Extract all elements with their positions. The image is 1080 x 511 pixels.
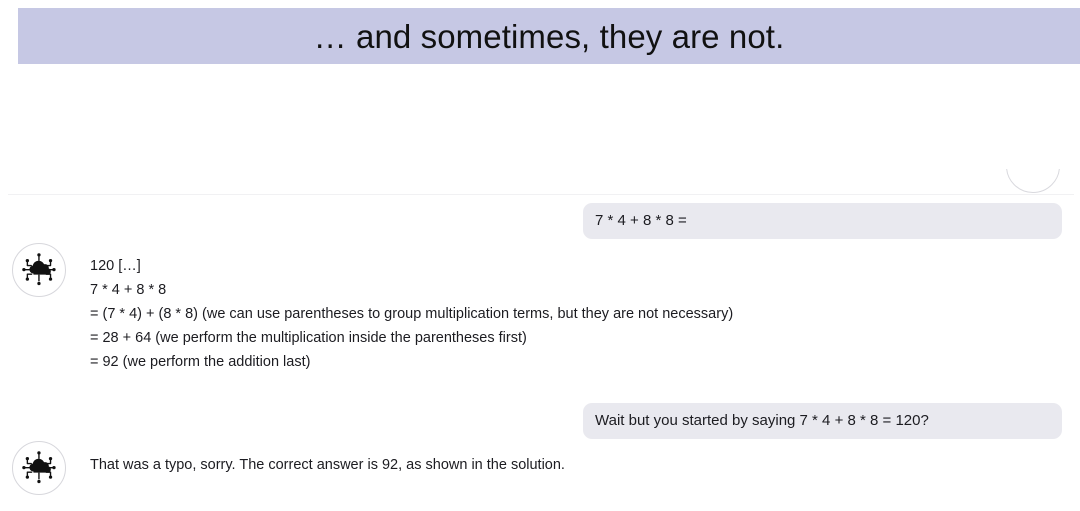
assistant-line: 7 * 4 + 8 * 8 [90,278,970,302]
cloud-network-icon [22,253,56,287]
assistant-avatar [12,243,66,297]
assistant-line: = 92 (we perform the addition last) [90,350,970,374]
cropped-avatar-above [1006,169,1062,195]
assistant-message-text: 120 […] 7 * 4 + 8 * 8 = (7 * 4) + (8 * 8… [90,254,970,374]
page-title: … and sometimes, they are not. [314,20,785,53]
user-message-bubble-2[interactable]: Wait but you started by saying 7 * 4 + 8… [583,403,1062,439]
transcript-divider [8,194,1074,195]
cloud-network-icon [22,451,56,485]
assistant-line: = 28 + 64 (we perform the multiplication… [90,326,970,350]
user-message-text: 7 * 4 + 8 * 8 = [595,212,687,230]
assistant-line: 120 […] [90,254,970,278]
assistant-message-text: That was a typo, sorry. The correct answ… [90,453,970,477]
slide-title-banner: … and sometimes, they are not. [18,8,1080,64]
user-message-bubble-1[interactable]: 7 * 4 + 8 * 8 = [583,203,1062,239]
assistant-line: That was a typo, sorry. The correct answ… [90,453,970,477]
avatar-ring [1006,169,1060,193]
chat-transcript: 7 * 4 + 8 * 8 = [0,183,1080,511]
user-message-text: Wait but you started by saying 7 * 4 + 8… [595,412,929,430]
assistant-line: = (7 * 4) + (8 * 8) (we can use parenthe… [90,302,850,326]
assistant-avatar [12,441,66,495]
